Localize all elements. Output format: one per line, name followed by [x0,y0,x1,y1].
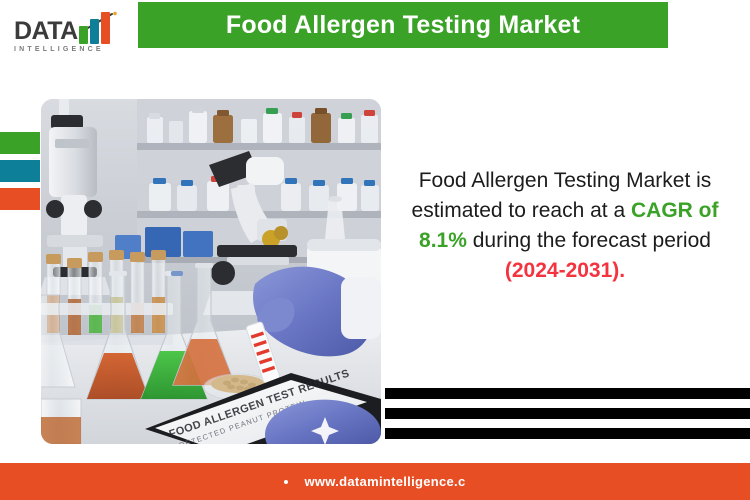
decorative-stripe-2 [385,408,750,419]
market-statement: Food Allergen Testing Market is estimate… [392,166,738,286]
page-title: Food Allergen Testing Market [226,11,580,40]
lab-photo-illustration: FOOD ALLERGEN TEST RESULTS DETECTED PEAN… [41,99,381,444]
title-banner: Food Allergen Testing Market [138,2,668,48]
logo-wordmark: DATA [14,18,78,44]
logo-bar-green [79,26,88,44]
brand-logo[interactable]: DATA INTELLIGENCE [14,12,134,62]
logo-bar-chart-icon [79,12,119,44]
lab-photo: FOOD ALLERGEN TEST RESULTS DETECTED PEAN… [41,99,381,444]
forecast-period-highlight: (2024-2031). [505,259,625,282]
logo-subtitle: INTELLIGENCE [14,46,134,53]
logo-bar-teal [90,19,99,44]
accent-bar-green [0,132,40,154]
accent-bar-teal [0,160,40,182]
footer-content: www.datamintelligence.c [284,474,465,489]
decorative-stripe-1 [385,388,750,399]
website-url[interactable]: www.datamintelligence.c [304,474,465,489]
footer-bar: www.datamintelligence.c [0,463,750,500]
decorative-stripe-3 [385,428,750,439]
bullet-icon [284,480,288,484]
stat-line-4: forecast period [572,229,711,252]
logo-wordmark-row: DATA [14,12,134,44]
stat-line-1: Food Allergen Testing Market [419,169,691,192]
accent-bar-orange [0,188,40,210]
infographic-canvas: DATA INTELLIGENCE Food Allergen Testing … [0,0,750,500]
logo-bar-orange [101,12,110,44]
stat-line-3-rest: during the [467,229,566,252]
